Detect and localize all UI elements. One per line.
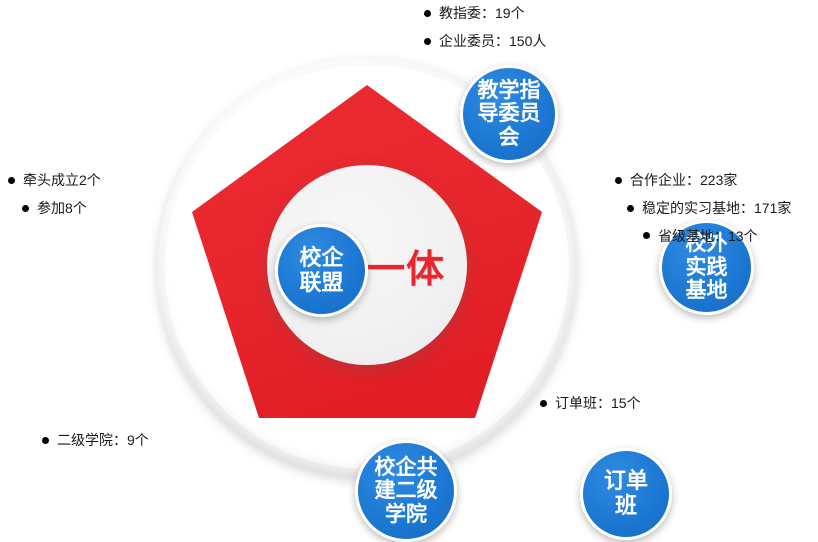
node-label-line: 会 (478, 126, 541, 150)
annotation-text: 教指委：19个 (439, 5, 525, 22)
node-label-line: 班 (604, 494, 648, 519)
node-label-line: 教学指 (478, 79, 541, 103)
annotation-group-right: 合作企业：223家 稳定的实习基地：171家 省级基地：13个 (615, 172, 791, 244)
node-label-line: 实践 (686, 256, 728, 280)
bullet-icon (615, 177, 622, 184)
annotation-item: 企业委员：150人 (424, 33, 546, 50)
annotation-item: 参加8个 (8, 200, 101, 217)
node-label-line: 校企共 (375, 456, 438, 480)
annotation-group-top: 教指委：19个 企业委员：150人 (424, 5, 546, 50)
node-teaching-guidance-committee[interactable]: 教学指 导委员 会 (460, 65, 558, 163)
five-in-one-diagram: 五位一体 教学指 导委员 会 校外 实践 基地 校企 联盟 校企共 建二级 学院… (157, 57, 577, 477)
annotation-text: 二级学院：9个 (57, 432, 149, 449)
node-label-line: 订单 (604, 469, 648, 494)
bullet-icon (8, 177, 15, 184)
node-label-line: 建二级 (375, 479, 438, 503)
node-label-line: 学院 (375, 503, 438, 527)
annotation-text: 牵头成立2个 (23, 172, 101, 189)
node-school-enterprise-college[interactable]: 校企共 建二级 学院 (355, 440, 457, 542)
annotation-item: 合作企业：223家 (615, 172, 791, 189)
bullet-icon (424, 38, 431, 45)
node-label-line: 联盟 (299, 271, 343, 296)
annotation-text: 参加8个 (37, 200, 87, 217)
annotation-group-left: 牵头成立2个 参加8个 (8, 172, 101, 217)
annotation-item: 省级基地：13个 (615, 228, 791, 245)
annotation-item: 牵头成立2个 (8, 172, 101, 189)
annotation-text: 稳定的实习基地：171家 (642, 200, 791, 217)
annotation-text: 合作企业：223家 (630, 172, 737, 189)
annotation-group-bottom-left: 二级学院：9个 (42, 432, 149, 449)
node-label-line: 基地 (686, 279, 728, 303)
annotation-text: 订单班：15个 (555, 395, 641, 412)
annotation-item: 教指委：19个 (424, 5, 546, 22)
bullet-icon (540, 400, 547, 407)
node-order-class[interactable]: 订单 班 (580, 448, 672, 540)
bullet-icon (22, 205, 29, 212)
annotation-text: 企业委员：150人 (439, 33, 546, 50)
bullet-icon (42, 437, 49, 444)
bullet-icon (424, 10, 431, 17)
bullet-icon (643, 232, 650, 239)
annotation-item: 稳定的实习基地：171家 (615, 200, 791, 217)
annotation-group-bottom-right: 订单班：15个 (540, 395, 641, 412)
node-label-line: 导委员 (478, 102, 541, 126)
annotation-item: 订单班：15个 (540, 395, 641, 412)
node-label-line: 校企 (299, 246, 343, 271)
bullet-icon (627, 205, 634, 212)
node-school-enterprise-alliance[interactable]: 校企 联盟 (275, 224, 368, 317)
annotation-item: 二级学院：9个 (42, 432, 149, 449)
annotation-text: 省级基地：13个 (658, 228, 758, 245)
